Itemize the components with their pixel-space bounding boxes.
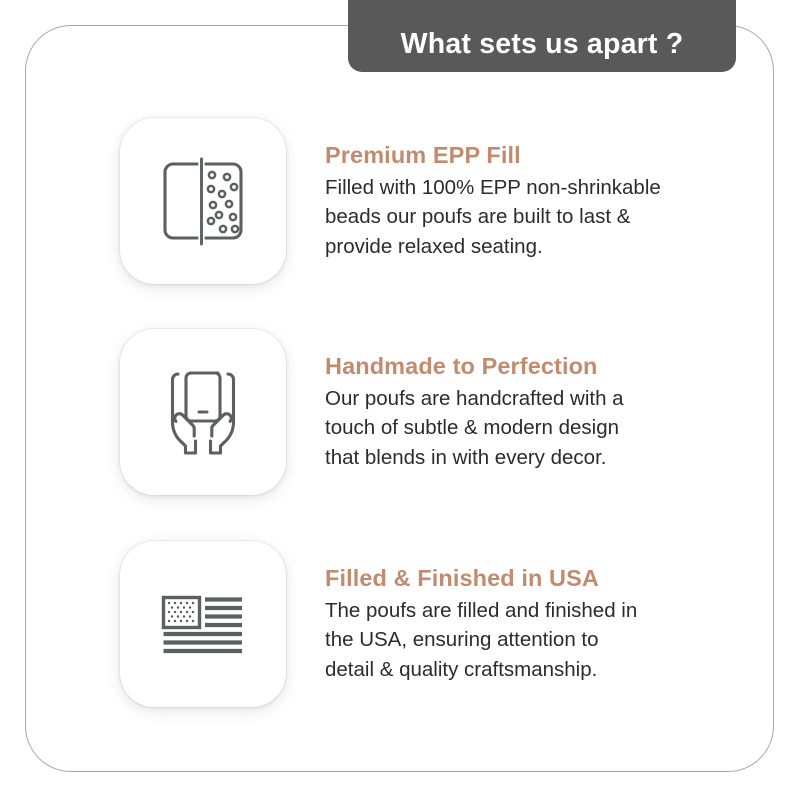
feature-description-line: detail & quality craftsmanship. xyxy=(325,655,729,684)
feature-description-line: touch of subtle & modern design xyxy=(325,413,729,442)
pouf-epp-beads-icon xyxy=(151,149,255,253)
feature-text-block: Filled & Finished in USA The poufs are f… xyxy=(286,541,740,684)
feature-icon-card xyxy=(120,118,286,284)
feature-icon-card xyxy=(120,329,286,495)
feature-row: Filled & Finished in USA The poufs are f… xyxy=(120,541,740,707)
usa-flag-icon xyxy=(151,572,255,676)
infographic-panel: What sets us apart ? xyxy=(0,0,800,800)
hands-holding-pouf-icon xyxy=(151,360,255,464)
feature-description-line: Our poufs are handcrafted with a xyxy=(325,384,729,413)
feature-row: Handmade to Perfection Our poufs are han… xyxy=(120,329,740,495)
feature-title: Handmade to Perfection xyxy=(325,353,740,379)
feature-description: Our poufs are handcrafted with a touch o… xyxy=(325,384,729,471)
header-banner: What sets us apart ? xyxy=(348,0,736,72)
feature-title: Filled & Finished in USA xyxy=(325,565,740,591)
feature-title: Premium EPP Fill xyxy=(325,142,740,168)
feature-icon-card xyxy=(120,541,286,707)
header-banner-title: What sets us apart ? xyxy=(401,30,684,59)
feature-description: The poufs are filled and finished in the… xyxy=(325,596,729,683)
feature-row: Premium EPP Fill Filled with 100% EPP no… xyxy=(120,118,740,284)
feature-description-line: beads our poufs are built to last & xyxy=(325,202,729,231)
feature-text-block: Premium EPP Fill Filled with 100% EPP no… xyxy=(286,118,740,261)
feature-description-line: The poufs are filled and finished in xyxy=(325,596,729,625)
feature-description-line: provide relaxed seating. xyxy=(325,232,729,261)
feature-description-line: Filled with 100% EPP non-shrinkable xyxy=(325,173,729,202)
feature-text-block: Handmade to Perfection Our poufs are han… xyxy=(286,329,740,472)
feature-description: Filled with 100% EPP non-shrinkable bead… xyxy=(325,173,729,260)
feature-description-line: the USA, ensuring attention to xyxy=(325,625,729,654)
feature-description-line: that blends in with every decor. xyxy=(325,443,729,472)
